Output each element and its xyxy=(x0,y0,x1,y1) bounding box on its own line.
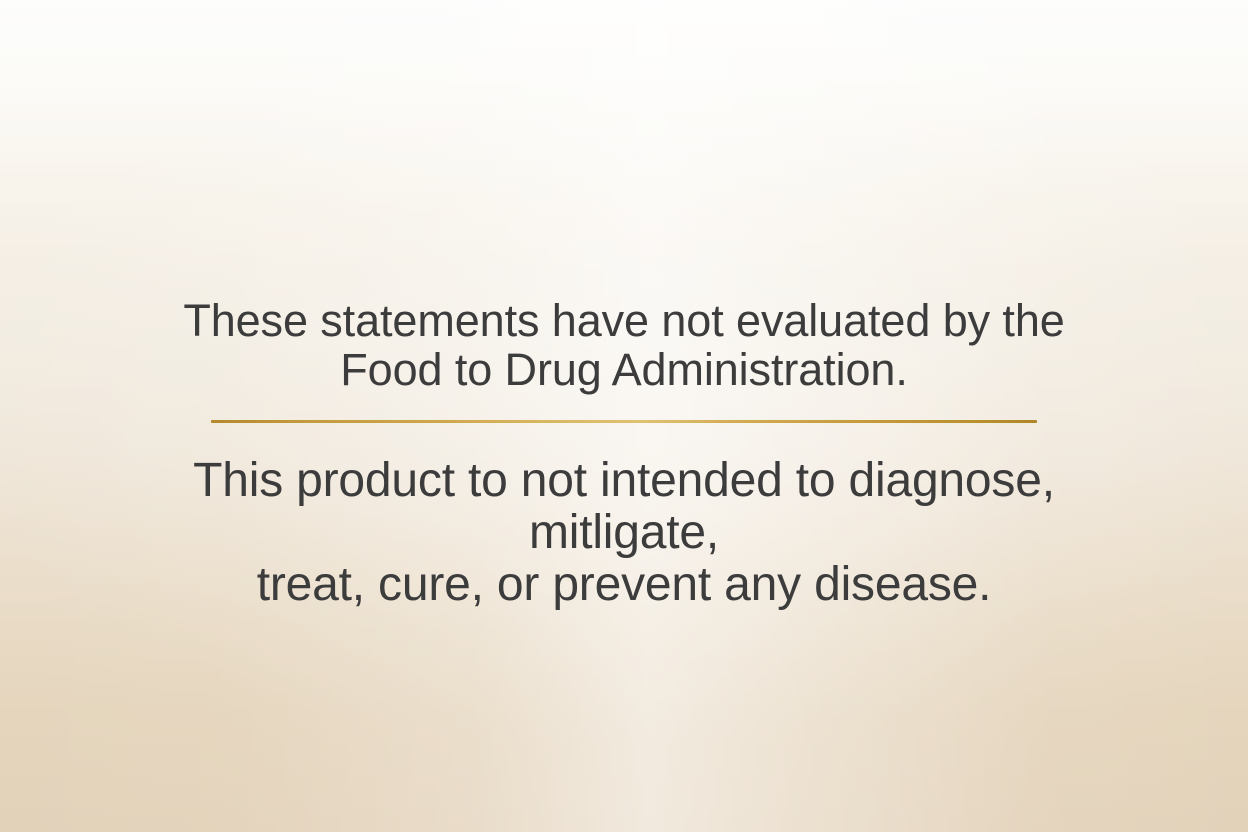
disclaimer-text-block: These statements have not evaluated by t… xyxy=(124,296,1124,611)
disclaimer-canvas: These statements have not evaluated by t… xyxy=(0,0,1248,832)
gold-divider-rule xyxy=(211,420,1037,423)
divider-container xyxy=(124,420,1124,423)
fda-evaluation-statement: These statements have not evaluated by t… xyxy=(124,296,1124,394)
product-claim-statement: This product to not intended to diagnose… xyxy=(124,455,1124,611)
